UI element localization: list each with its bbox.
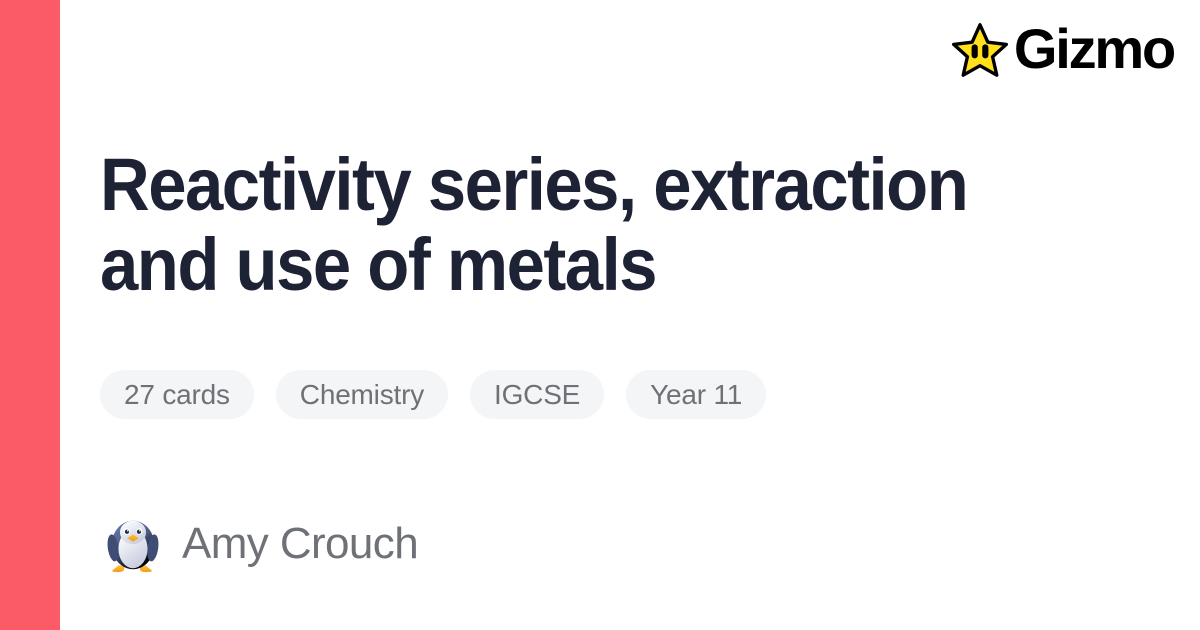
tag-list: 27 cards Chemistry IGCSE Year 11 — [100, 370, 766, 419]
left-accent-bar — [0, 0, 60, 630]
card-content: Reactivity series, extraction and use of… — [100, 0, 1160, 630]
tag-year: Year 11 — [626, 370, 766, 419]
page-title: Reactivity series, extraction and use of… — [100, 145, 1049, 305]
tag-qualification: IGCSE — [470, 370, 604, 419]
author-row: Amy Crouch — [102, 508, 418, 580]
tag-card-count: 27 cards — [100, 370, 254, 419]
author-name: Amy Crouch — [182, 522, 418, 566]
tag-subject: Chemistry — [276, 370, 448, 419]
share-card: Gizmo Reactivity series, extraction and … — [0, 0, 1200, 630]
penguin-avatar-icon — [102, 513, 164, 575]
